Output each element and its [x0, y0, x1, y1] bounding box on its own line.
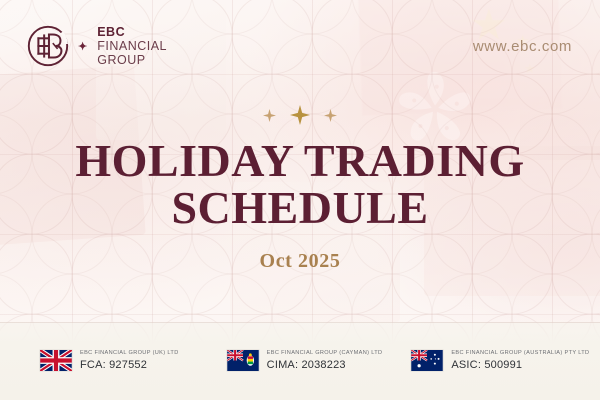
ebc-monogram-icon: [24, 22, 72, 70]
entity-name: EBC FINANCIAL GROUP (CAYMAN) LTD: [267, 350, 383, 357]
page-title-line-2: SCHEDULE: [0, 185, 600, 232]
four-point-star-icon: [290, 105, 310, 125]
plus-icon: ✦: [78, 40, 87, 53]
regulatory-entity-text: EBC FINANCIAL GROUP (CAYMAN) LTD CIMA: 2…: [267, 350, 383, 372]
page-title: HOLIDAY TRADING SCHEDULE: [0, 138, 600, 232]
regulatory-entity-uk: EBC FINANCIAL GROUP (UK) LTD FCA: 927552: [10, 350, 219, 372]
regulatory-entity-text: EBC FINANCIAL GROUP (AUSTRALIA) PTY LTD …: [451, 350, 589, 372]
regulatory-entity-text: EBC FINANCIAL GROUP (UK) LTD FCA: 927552: [80, 350, 179, 372]
brand-name-line-1: EBC: [97, 25, 167, 39]
brand-lockup[interactable]: ✦ EBC FINANCIAL GROUP: [24, 22, 167, 70]
entity-name: EBC FINANCIAL GROUP (UK) LTD: [80, 350, 179, 357]
footer-divider: [0, 322, 600, 323]
brand-wordmark: EBC FINANCIAL GROUP: [97, 25, 167, 68]
four-point-star-icon: [263, 109, 276, 122]
holiday-trading-schedule-poster: ★ ★ ★: [0, 0, 600, 400]
regulatory-entity-australia: EBC FINANCIAL GROUP (AUSTRALIA) PTY LTD …: [405, 350, 590, 372]
regulatory-entity-list: EBC FINANCIAL GROUP (UK) LTD FCA: 927552: [0, 350, 600, 372]
schedule-month-label: Oct 2025: [0, 250, 600, 273]
poster-header: ✦ EBC FINANCIAL GROUP www.ebc.com: [0, 0, 600, 92]
website-url[interactable]: www.ebc.com: [473, 38, 572, 55]
brand-name-line-3: GROUP: [97, 53, 167, 67]
hero-section: HOLIDAY TRADING SCHEDULE Oct 2025: [0, 100, 600, 273]
cayman-islands-flag-icon: [227, 350, 259, 371]
uk-flag-icon: [40, 350, 72, 371]
brand-name-line-2: FINANCIAL: [97, 39, 167, 53]
entity-license: ASIC: 500991: [451, 359, 589, 372]
australia-flag-icon: [411, 350, 443, 371]
entity-license: CIMA: 2038223: [267, 359, 383, 372]
entity-name: EBC FINANCIAL GROUP (AUSTRALIA) PTY LTD: [451, 350, 589, 357]
poster-footer: EBC FINANCIAL GROUP (UK) LTD FCA: 927552: [0, 322, 600, 400]
regulatory-entity-cayman: EBC FINANCIAL GROUP (CAYMAN) LTD CIMA: 2…: [219, 350, 406, 372]
four-point-star-icon: [324, 109, 337, 122]
sparkle-divider: [0, 100, 600, 130]
entity-license: FCA: 927552: [80, 359, 179, 372]
page-title-line-1: HOLIDAY TRADING: [75, 135, 524, 186]
